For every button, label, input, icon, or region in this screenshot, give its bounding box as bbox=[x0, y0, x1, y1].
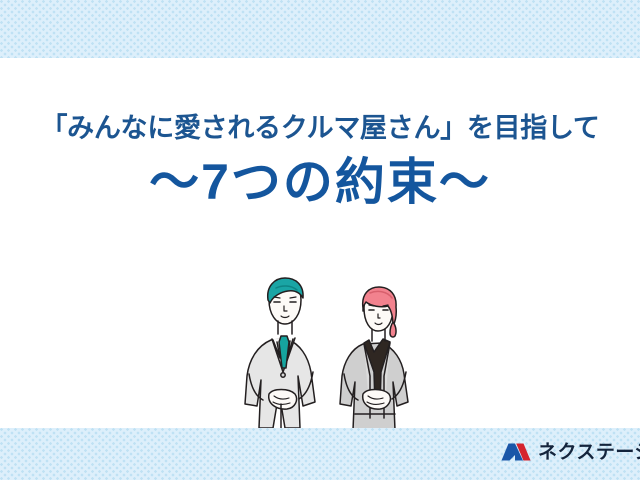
headline-block: 「みんなに愛されるクルマ屋さん」を目指して ～7つの約束～ bbox=[0, 112, 640, 211]
dot-pattern-band-top bbox=[0, 0, 640, 58]
bowing-staff-illustration bbox=[243, 276, 423, 441]
nextage-n-mark-icon bbox=[501, 441, 531, 463]
nextage-logo: ネクステージ bbox=[501, 441, 640, 463]
male-staff-figure bbox=[245, 278, 315, 428]
staff-illustration-svg bbox=[243, 276, 423, 441]
nextage-wordmark: ネクステージ bbox=[538, 443, 640, 462]
headline-subtitle: 「みんなに愛されるクルマ屋さん」を目指して bbox=[0, 112, 640, 146]
headline-title: ～7つの約束～ bbox=[0, 154, 640, 212]
female-staff-figure bbox=[340, 287, 408, 430]
promotional-banner: 「みんなに愛されるクルマ屋さん」を目指して ～7つの約束～ bbox=[0, 0, 640, 480]
